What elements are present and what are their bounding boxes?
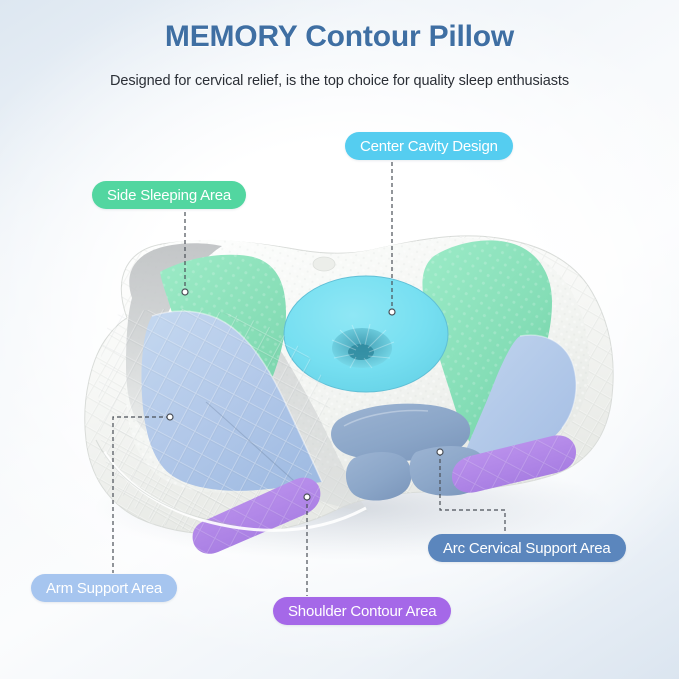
label-shoulder-contour-area[interactable]: Shoulder Contour Area [273, 597, 451, 625]
pillow-center-nub [313, 257, 335, 271]
label-arc-cervical-support-area[interactable]: Arc Cervical Support Area [428, 534, 626, 562]
label-side-sleeping-area[interactable]: Side Sleeping Area [92, 181, 246, 209]
infographic-canvas: MEMORY Contour Pillow Designed for cervi… [0, 0, 679, 679]
label-center-cavity-design[interactable]: Center Cavity Design [345, 132, 513, 160]
arc-cervical-lower-left [346, 452, 412, 501]
label-arm-support-area[interactable]: Arm Support Area [31, 574, 177, 602]
